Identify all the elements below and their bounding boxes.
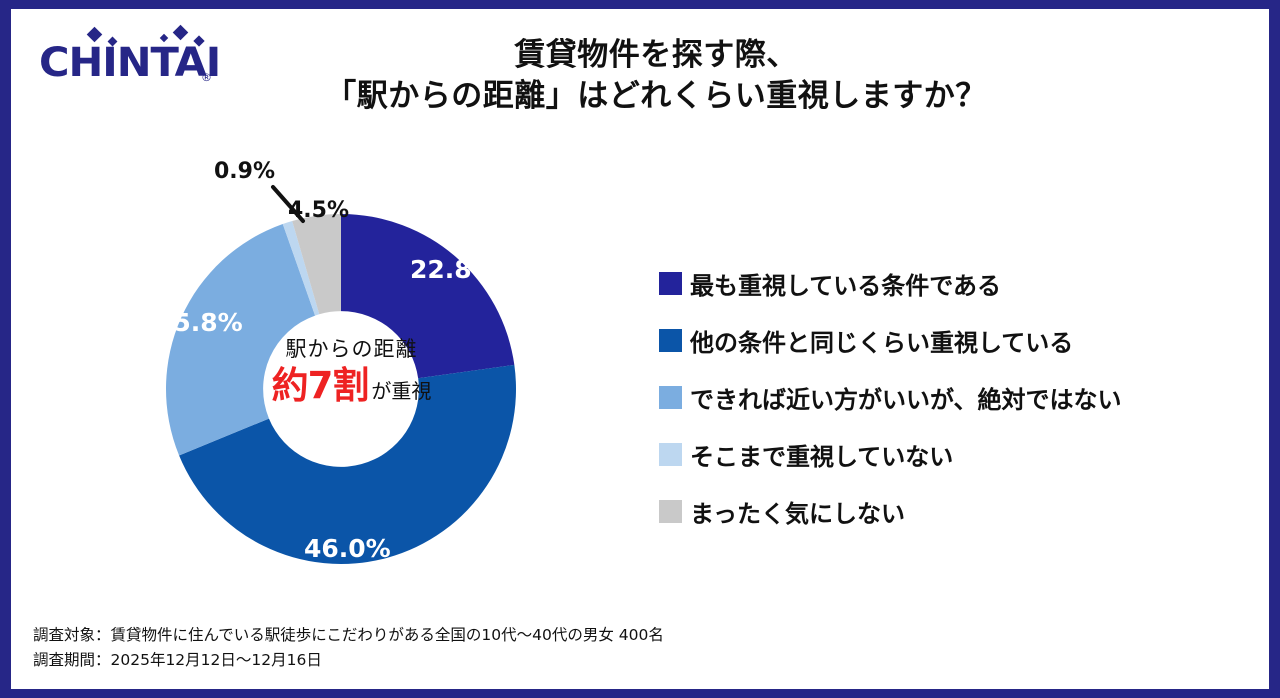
- center-highlight-value: 約7割: [272, 364, 369, 407]
- slice-label-4: 4.5%: [288, 198, 349, 223]
- legend-item-1[interactable]: 他の条件と同じくらい重視している: [659, 312, 1239, 369]
- slice-label-3: 0.9%: [214, 159, 275, 184]
- legend-swatch-icon-3: [659, 443, 682, 466]
- page-title: 賃貸物件を探す際、 「駅からの距離」はどれくらい重視しますか？: [261, 35, 1051, 117]
- legend-label-0: 最も重視している条件である: [690, 266, 1001, 301]
- center-top-text: 駅からの距離: [264, 337, 439, 362]
- center-suffix-text: が重視: [371, 379, 431, 403]
- logo-diamond-4: [173, 25, 189, 41]
- legend-label-1: 他の条件と同じくらい重視している: [690, 323, 1073, 358]
- title-line-1: 賃貸物件を探す際、: [514, 37, 798, 73]
- title-line-2: 「駅からの距離」はどれくらい重視しますか？: [261, 76, 1051, 117]
- slice-label-0: 22.8%: [410, 255, 497, 284]
- survey-footnotes: 調査対象：賃貸物件に住んでいる駅徒歩にこだわりがある全国の10代〜40代の男女 …: [33, 623, 664, 673]
- donut-center-annotation: 駅からの距離 約7割が重視: [264, 337, 439, 407]
- legend-swatch-icon-2: [659, 386, 682, 409]
- slice-label-1: 46.0%: [304, 534, 391, 563]
- registered-trademark-icon: ®: [201, 71, 212, 84]
- footnote-target: 調査対象：賃貸物件に住んでいる駅徒歩にこだわりがある全国の10代〜40代の男女 …: [33, 623, 664, 648]
- legend-label-4: まったく気にしない: [690, 494, 905, 529]
- legend-item-4[interactable]: まったく気にしない: [659, 483, 1239, 540]
- donut-chart: 22.8% 46.0% 25.8% 0.9% 4.5% 駅からの距離 約7割が重…: [121, 159, 591, 609]
- content-canvas: CHINTAI ® 賃貸物件を探す際、 「駅からの距離」はどれくらい重視しますか…: [11, 9, 1269, 689]
- legend-swatch-icon-4: [659, 500, 682, 523]
- legend-label-3: そこまで重視していない: [690, 437, 953, 472]
- legend-swatch-icon-1: [659, 329, 682, 352]
- infographic-page: CHINTAI ® 賃貸物件を探す際、 「駅からの距離」はどれくらい重視しますか…: [0, 0, 1280, 698]
- center-bottom-line: 約7割が重視: [264, 366, 439, 407]
- legend-item-0[interactable]: 最も重視している条件である: [659, 255, 1239, 312]
- logo-wordmark: CHINTAI: [39, 43, 220, 83]
- chart-legend: 最も重視している条件である 他の条件と同じくらい重視している できれば近い方がい…: [659, 255, 1239, 540]
- legend-swatch-icon-0: [659, 272, 682, 295]
- chintai-logo: CHINTAI ®: [33, 27, 243, 93]
- slice-label-2: 25.8%: [156, 308, 243, 337]
- legend-item-2[interactable]: できれば近い方がいいが、絶対ではない: [659, 369, 1239, 426]
- legend-item-3[interactable]: そこまで重視していない: [659, 426, 1239, 483]
- legend-label-2: できれば近い方がいいが、絶対ではない: [690, 380, 1122, 415]
- footnote-period: 調査期間：2025年12月12日〜12月16日: [33, 648, 664, 673]
